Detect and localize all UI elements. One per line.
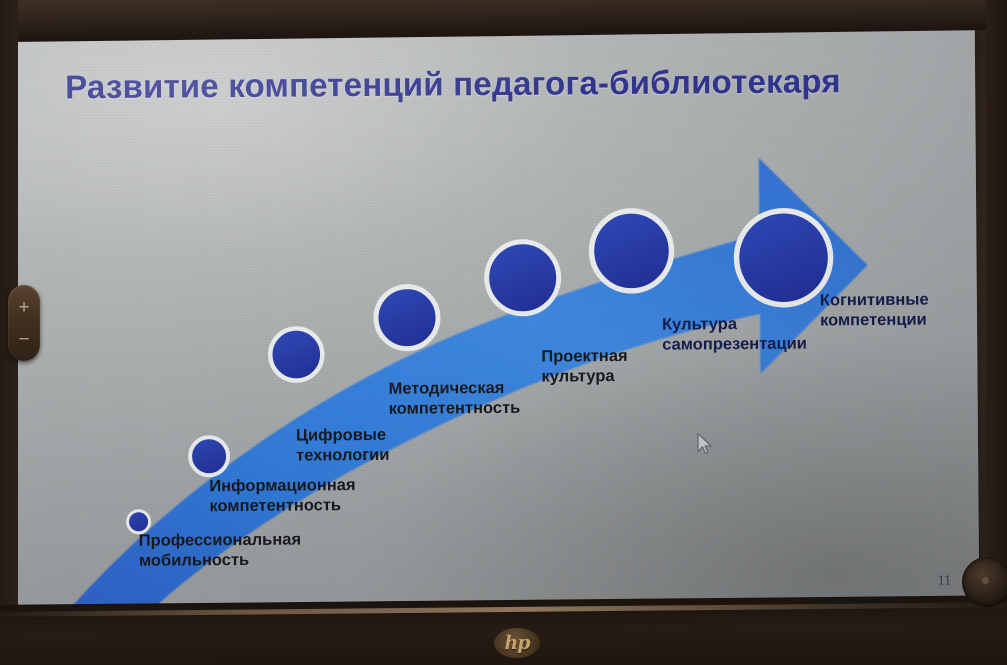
zoom-in-icon[interactable]: + — [18, 298, 29, 317]
slide-number: 11 — [938, 573, 952, 589]
stage-label-4-line2: компетентность — [389, 398, 521, 419]
stage-label-4: Методическая компетентность — [388, 378, 520, 419]
stage-node[interactable] — [128, 511, 150, 533]
stage-label-7: Когнитивные компетенции — [820, 290, 929, 331]
stage-label-7-line2: компетенции — [820, 310, 929, 331]
zoom-out-icon[interactable]: − — [18, 330, 29, 349]
monitor-screen: Развитие компетенций педагога-библиотека… — [10, 26, 979, 609]
hp-logo-text: hp — [504, 633, 529, 652]
stage-label-3-line2: технологии — [296, 445, 390, 466]
stage-label-6-line2: самопрезентации — [662, 334, 807, 355]
stage-label-6: Культура самопрезентации — [662, 314, 807, 355]
stage-label-1-line1: Профессиональная — [139, 531, 301, 550]
stage-node[interactable] — [591, 211, 672, 292]
page-title: Развитие компетенций педагога-библиотека… — [65, 62, 841, 106]
stage-node[interactable] — [190, 437, 228, 475]
stage-label-5: Проектная культура — [541, 346, 628, 387]
stage-node[interactable] — [486, 241, 559, 314]
zoom-rocker-control[interactable]: + − — [8, 285, 40, 361]
stage-label-2-line1: Информационная — [209, 476, 355, 495]
stage-label-5-line1: Проектная — [541, 347, 627, 366]
stage-node[interactable] — [376, 286, 438, 348]
stage-label-7-line1: Когнитивные — [820, 291, 929, 310]
mouse-cursor-icon — [696, 432, 714, 456]
stage-node[interactable] — [270, 328, 322, 380]
photographed-monitor: Развитие компетенций педагога-библиотека… — [0, 0, 1007, 665]
stage-label-4-line1: Методическая — [388, 379, 504, 398]
stage-label-1-line2: мобильность — [139, 550, 301, 571]
monitor-knob[interactable] — [962, 557, 1007, 607]
stage-label-2: Информационная компетентность — [209, 475, 356, 516]
stage-label-5-line2: культура — [541, 366, 627, 387]
stage-label-2-line2: компетентность — [209, 495, 355, 516]
stage-label-1: Профессиональная мобильность — [139, 530, 302, 572]
stage-label-6-line1: Культура — [662, 315, 737, 334]
stage-node[interactable] — [736, 210, 831, 305]
stage-label-3: Цифровые технологии — [296, 425, 390, 466]
stage-label-3-line1: Цифровые — [296, 426, 386, 445]
